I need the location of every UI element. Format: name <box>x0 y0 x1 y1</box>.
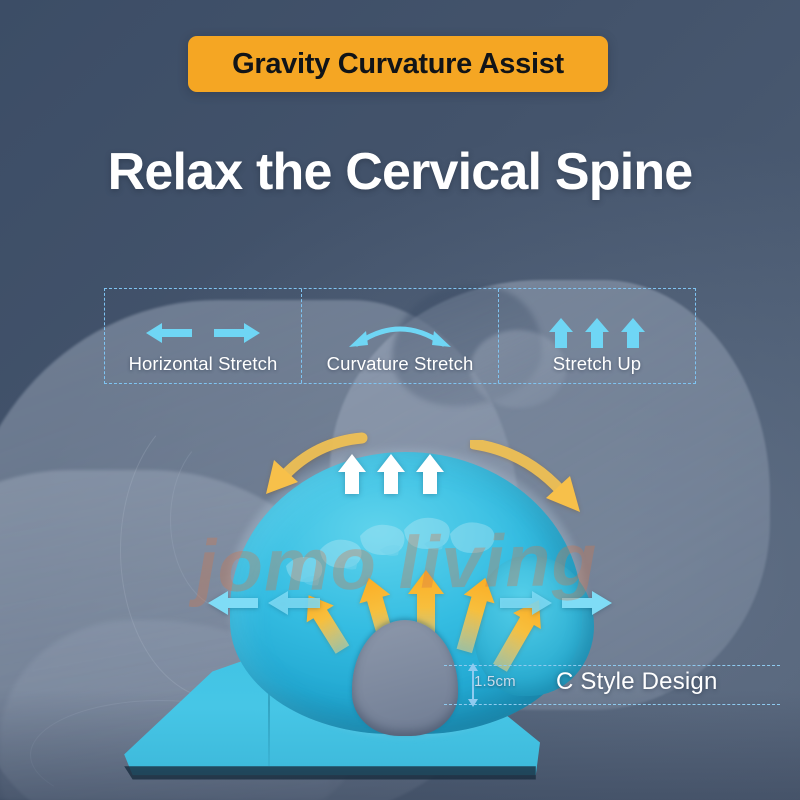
cervical-spine-icon <box>272 488 522 598</box>
measurement-guide-line-bottom <box>444 704 780 705</box>
product-marketing-banner: Gravity Curvature Assist Relax the Cervi… <box>0 0 800 800</box>
product-illustration: jomo living 1.5cm C Style Design <box>0 0 800 800</box>
measurement-guide-line-top <box>444 665 780 666</box>
measurement-label: 1.5cm <box>474 673 516 690</box>
design-style-label: C Style Design <box>556 668 718 696</box>
